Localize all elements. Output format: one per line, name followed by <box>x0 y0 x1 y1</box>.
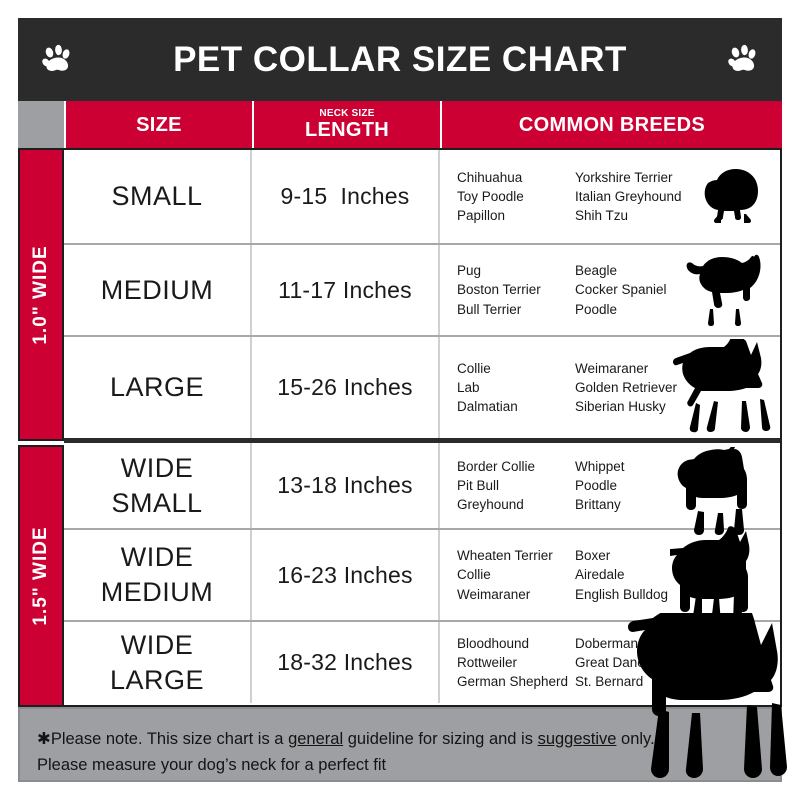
section-bar-1-0-wide: 1.0" WIDE <box>18 148 64 441</box>
cell-breeds: Collie Lab Dalmatian Weimaraner Golden R… <box>440 337 780 438</box>
length-value: 13-18 Inches <box>277 472 412 499</box>
footer-text-part-2: guideline for sizing and is <box>343 730 537 748</box>
table-row: SMALL 9-15 Inches Chihuahua Toy Poodle P… <box>64 150 780 245</box>
cell-size: MEDIUM <box>64 245 252 335</box>
breed-column-b: Doberman Great Dane St. Bernard <box>575 634 705 691</box>
size-label-line2: LARGE <box>110 663 204 698</box>
length-value: 16-23 Inches <box>277 562 412 589</box>
table-row: LARGE 15-26 Inches Collie Lab Dalmatian … <box>64 337 780 443</box>
column-header-row: SIZE NECK SIZE LENGTH COMMON BREEDS <box>18 101 782 148</box>
breed-column-a: Chihuahua Toy Poodle Papillon <box>457 168 575 225</box>
cell-size: WIDE LARGE <box>64 622 252 703</box>
chart-frame: PET COLLAR SIZE CHART SIZE NECK SIZE LEN… <box>18 18 782 782</box>
breed-item: Border Collie <box>457 457 575 476</box>
footer-underline-suggestive: suggestive <box>538 730 617 748</box>
breed-column-b: Whippet Poodle Brittany <box>575 457 705 514</box>
column-header-size: SIZE <box>66 101 252 148</box>
cell-breeds: Bloodhound Rottweiler German Shepherd Do… <box>440 622 780 703</box>
breed-item: Poodle <box>575 300 705 319</box>
breed-item: Pit Bull <box>457 476 575 495</box>
table-row: WIDE MEDIUM 16-23 Inches Wheaten Terrier… <box>64 530 780 622</box>
breed-item: Toy Poodle <box>457 187 575 206</box>
breed-item: Siberian Husky <box>575 397 705 416</box>
breed-item: Wheaten Terrier <box>457 546 575 565</box>
breed-item: Boston Terrier <box>457 280 575 299</box>
breed-column-b: Beagle Cocker Spaniel Poodle <box>575 261 705 318</box>
table-row: WIDE SMALL 13-18 Inches Border Collie Pi… <box>64 443 780 530</box>
size-label: LARGE <box>110 370 204 405</box>
size-label-line1: WIDE <box>121 451 194 486</box>
rows-area: SMALL 9-15 Inches Chihuahua Toy Poodle P… <box>64 148 782 707</box>
section-bar-1-5-wide-label: 1.5" WIDE <box>30 526 52 625</box>
size-label: MEDIUM <box>101 273 214 308</box>
footer-note-line-1: ✱Please note. This size chart is a gener… <box>37 726 780 752</box>
length-value: 15-26 Inches <box>277 374 412 401</box>
column-header-breeds-label: COMMON BREEDS <box>519 115 705 135</box>
breed-item: Collie <box>457 359 575 378</box>
footer-note-line-2: Please measure your dog’s neck for a per… <box>37 752 780 778</box>
column-header-length: NECK SIZE LENGTH <box>254 101 440 148</box>
breed-item: German Shepherd <box>457 672 575 691</box>
breed-item: English Bulldog <box>575 585 705 604</box>
table-row: WIDE LARGE 18-32 Inches Bloodhound Rottw… <box>64 622 780 703</box>
footer-underline-general: general <box>288 730 343 748</box>
paw-print-icon <box>40 43 74 77</box>
pet-collar-size-chart: PET COLLAR SIZE CHART SIZE NECK SIZE LEN… <box>0 0 800 800</box>
small-fluffy-dog-silhouette <box>694 166 768 228</box>
column-header-size-label: SIZE <box>136 115 182 135</box>
cell-length: 11-17 Inches <box>252 245 440 335</box>
breed-item: Bull Terrier <box>457 300 575 319</box>
breed-column-a: Border Collie Pit Bull Greyhound <box>457 457 575 514</box>
breed-column-a: Collie Lab Dalmatian <box>457 359 575 416</box>
breed-item: Boxer <box>575 546 705 565</box>
breed-item: Brittany <box>575 495 705 514</box>
breed-column-a: Wheaten Terrier Collie Weimaraner <box>457 546 575 603</box>
breed-column-b: Boxer Airedale English Bulldog <box>575 546 705 603</box>
breed-column-b: Weimaraner Golden Retriever Siberian Hus… <box>575 359 705 416</box>
title-banner: PET COLLAR SIZE CHART <box>18 18 782 101</box>
cell-breeds: Wheaten Terrier Collie Weimaraner Boxer … <box>440 530 780 620</box>
cell-size: SMALL <box>64 150 252 243</box>
breed-item: Lab <box>457 378 575 397</box>
table-body: 1.0" WIDE 1.5" WIDE SMALL 9-15 Inches <box>18 148 782 707</box>
header-corner-spacer <box>18 101 64 148</box>
cell-size: WIDE SMALL <box>64 443 252 528</box>
breed-item: Weimaraner <box>457 585 575 604</box>
breed-item: Shih Tzu <box>575 206 705 225</box>
cell-breeds: Pug Boston Terrier Bull Terrier Beagle C… <box>440 245 780 335</box>
column-header-breeds: COMMON BREEDS <box>442 101 782 148</box>
paw-print-icon <box>726 43 760 77</box>
breed-item: Golden Retriever <box>575 378 705 397</box>
footer-note: ✱Please note. This size chart is a gener… <box>18 707 782 782</box>
breed-item: Whippet <box>575 457 705 476</box>
cell-length: 13-18 Inches <box>252 443 440 528</box>
breed-item: Weimaraner <box>575 359 705 378</box>
breed-item: St. Bernard <box>575 672 705 691</box>
cell-size: WIDE MEDIUM <box>64 530 252 620</box>
breed-item: Cocker Spaniel <box>575 280 705 299</box>
section-bar-1-0-wide-label: 1.0" WIDE <box>30 245 52 344</box>
breed-column-b: Yorkshire Terrier Italian Greyhound Shih… <box>575 168 705 225</box>
breed-item: Poodle <box>575 476 705 495</box>
breed-item: Chihuahua <box>457 168 575 187</box>
column-header-length-label: LENGTH <box>305 120 389 140</box>
breed-item: Airedale <box>575 565 705 584</box>
cell-breeds: Border Collie Pit Bull Greyhound Whippet… <box>440 443 780 528</box>
cell-size: LARGE <box>64 337 252 438</box>
breed-item: Rottweiler <box>457 653 575 672</box>
column-header-length-sublabel: NECK SIZE <box>319 109 374 119</box>
cell-length: 9-15 Inches <box>252 150 440 243</box>
length-value: 11-17 Inches <box>278 277 412 304</box>
size-label-line2: MEDIUM <box>101 575 214 610</box>
section-bar-1-5-wide: 1.5" WIDE <box>18 445 64 707</box>
cell-breeds: Chihuahua Toy Poodle Papillon Yorkshire … <box>440 150 780 243</box>
size-label-line1: WIDE <box>121 628 194 663</box>
page-title: PET COLLAR SIZE CHART <box>173 40 627 80</box>
breed-item: Beagle <box>575 261 705 280</box>
breed-column-a: Pug Boston Terrier Bull Terrier <box>457 261 575 318</box>
breed-item: Collie <box>457 565 575 584</box>
breed-item: Great Dane <box>575 653 705 672</box>
breed-item: Bloodhound <box>457 634 575 653</box>
length-value: 18-32 Inches <box>277 649 412 676</box>
footer-text-part-3: only. <box>616 730 654 748</box>
size-label-line1: WIDE <box>121 540 194 575</box>
cell-length: 16-23 Inches <box>252 530 440 620</box>
cell-length: 18-32 Inches <box>252 622 440 703</box>
footer-text-part-1: ✱Please note. This size chart is a <box>37 730 288 748</box>
breed-item: Yorkshire Terrier <box>575 168 705 187</box>
size-label: SMALL <box>111 179 202 214</box>
breed-item: Greyhound <box>457 495 575 514</box>
cell-length: 15-26 Inches <box>252 337 440 438</box>
table-row: MEDIUM 11-17 Inches Pug Boston Terrier B… <box>64 245 780 337</box>
breed-item: Dalmatian <box>457 397 575 416</box>
length-value: 9-15 Inches <box>281 183 410 210</box>
breed-item: Papillon <box>457 206 575 225</box>
breed-item: Italian Greyhound <box>575 187 705 206</box>
size-label-line2: SMALL <box>111 486 202 521</box>
breed-item: Pug <box>457 261 575 280</box>
breed-column-a: Bloodhound Rottweiler German Shepherd <box>457 634 575 691</box>
breed-item: Doberman <box>575 634 705 653</box>
